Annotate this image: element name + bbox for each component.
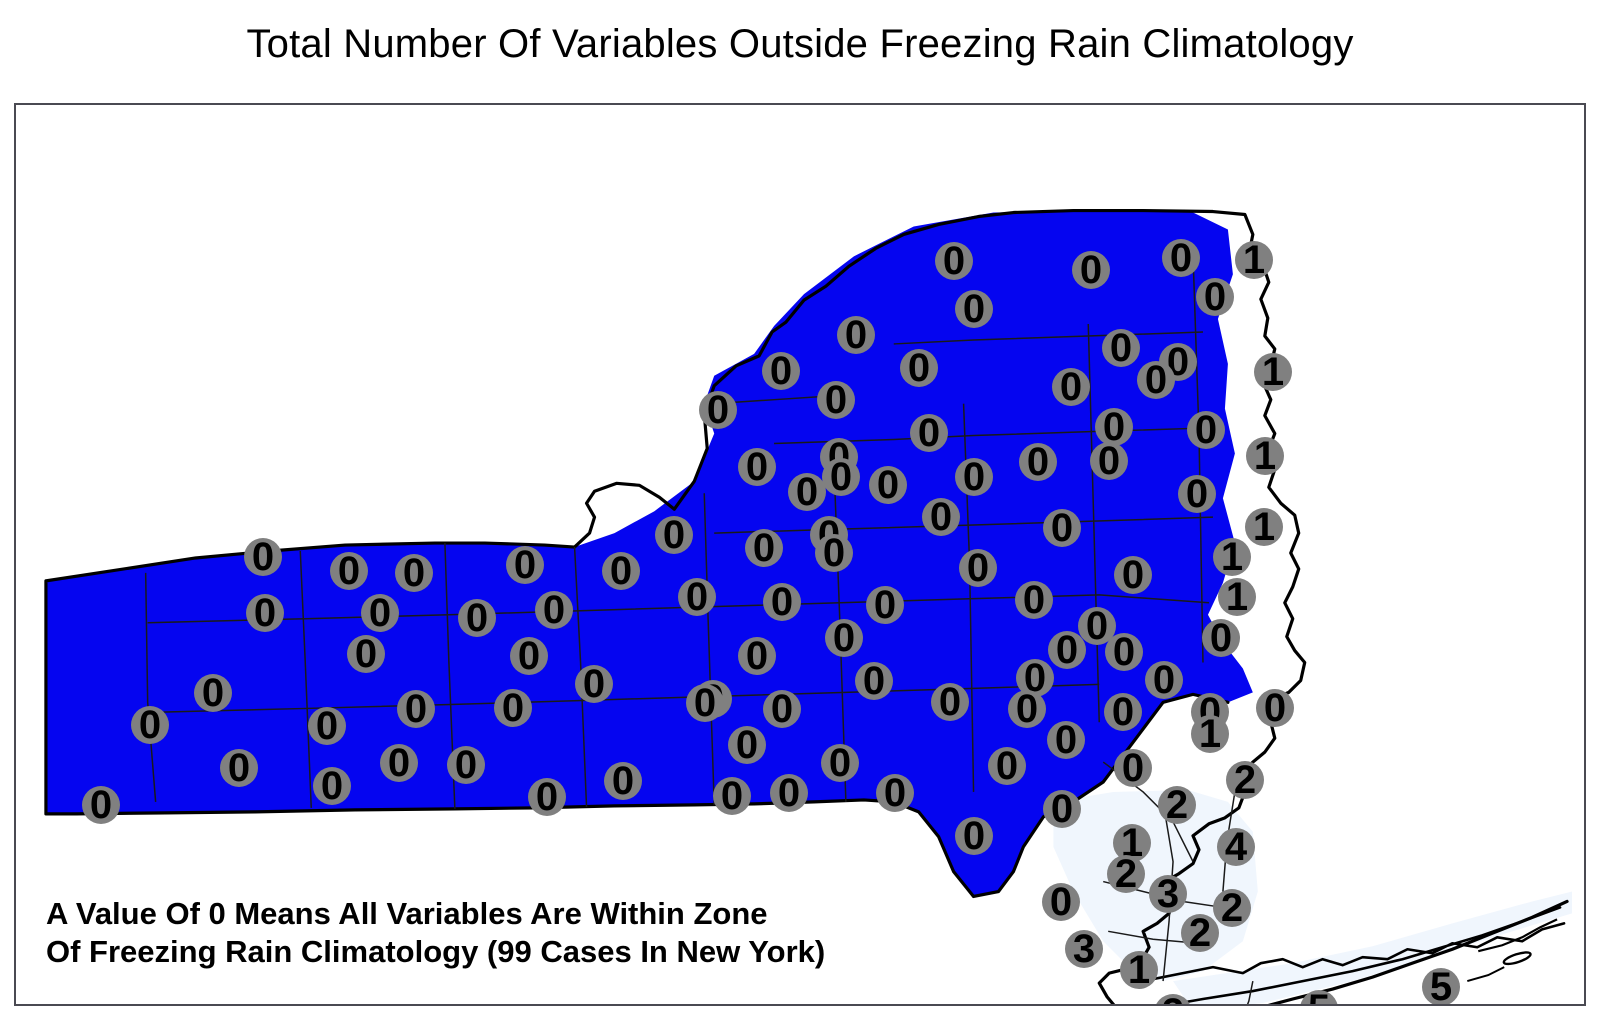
station-value-marker[interactable]: 0 [817,381,855,419]
station-value-marker[interactable]: 0 [728,726,766,764]
station-value-marker[interactable]: 0 [713,777,751,815]
station-value-marker[interactable]: 0 [745,529,783,567]
annotation-line-2: Of Freezing Rain Climatology (99 Cases I… [46,933,1076,971]
station-value-marker[interactable]: 0 [1052,368,1090,406]
station-value-marker[interactable]: 0 [220,749,258,787]
station-value-marker[interactable]: 0 [380,744,418,782]
station-value-marker[interactable]: 0 [770,774,808,812]
station-value-marker[interactable]: 0 [131,706,169,744]
station-value-marker[interactable]: 2 [1181,914,1219,952]
station-value-marker[interactable]: 0 [1015,581,1053,619]
station-value-marker[interactable]: 1 [1120,951,1158,989]
station-value-marker[interactable]: 0 [1187,411,1225,449]
station-value-marker[interactable]: 1 [1254,353,1292,391]
station-value-marker[interactable]: 0 [1196,278,1234,316]
station-value-marker[interactable]: 0 [1178,475,1216,513]
station-value-marker[interactable]: 0 [1047,721,1085,759]
station-value-marker[interactable]: 2 [1226,761,1264,799]
station-value-marker[interactable]: 0 [935,242,973,280]
station-value-marker[interactable]: 0 [763,583,801,621]
station-value-marker[interactable]: 1 [1218,578,1256,616]
station-value-marker[interactable]: 0 [959,549,997,587]
station-value-marker[interactable]: 0 [395,554,433,592]
station-value-marker[interactable]: 0 [762,352,800,390]
station-value-marker[interactable]: 0 [955,458,993,496]
station-value-marker[interactable]: 0 [686,684,724,722]
station-value-marker[interactable]: 0 [876,774,914,812]
station-value-marker[interactable]: 0 [246,594,284,632]
station-value-marker[interactable]: 0 [1102,329,1140,367]
station-value-marker[interactable]: 0 [955,290,993,328]
station-value-marker[interactable]: 0 [1019,443,1057,481]
station-value-marker[interactable]: 0 [922,498,960,536]
station-value-marker[interactable]: 0 [313,767,351,805]
station-value-marker[interactable]: 3 [1149,875,1187,913]
station-value-marker[interactable]: 0 [738,637,776,675]
station-value-marker[interactable]: 0 [1114,556,1152,594]
station-value-marker[interactable]: 0 [458,599,496,637]
station-value-marker[interactable]: 0 [1162,239,1200,277]
station-value-marker[interactable]: 0 [825,619,863,657]
page-title: Total Number Of Variables Outside Freezi… [0,22,1600,67]
station-value-marker[interactable]: 0 [837,316,875,354]
station-value-marker[interactable]: 0 [822,458,860,496]
station-value-marker[interactable]: 0 [699,391,737,429]
station-value-marker[interactable]: 0 [361,594,399,632]
station-value-marker[interactable]: 0 [1114,749,1152,787]
station-value-marker[interactable]: 0 [866,586,904,624]
station-value-marker[interactable]: 0 [1256,689,1294,727]
station-value-marker[interactable]: 0 [678,578,716,616]
station-value-marker[interactable]: 0 [330,552,368,590]
station-value-marker[interactable]: 0 [815,534,853,572]
station-value-marker[interactable]: 0 [1043,509,1081,547]
station-value-marker[interactable]: 0 [910,414,948,452]
station-value-marker[interactable]: 0 [82,786,120,824]
station-value-marker[interactable]: 0 [869,466,907,504]
station-value-marker[interactable]: 0 [931,683,969,721]
annotation-block: A Value Of 0 Means All Variables Are Wit… [46,895,1076,971]
station-value-marker[interactable]: 0 [821,744,859,782]
map-panel[interactable]: 0001000000000100000000010000000000010000… [14,103,1586,1006]
station-value-marker[interactable]: 0 [1145,661,1183,699]
station-value-marker[interactable]: 0 [506,546,544,584]
station-value-marker[interactable]: 0 [1202,619,1240,657]
station-value-marker[interactable]: 0 [1137,361,1175,399]
station-value-marker[interactable]: 1 [1191,715,1229,753]
figure-root: Total Number Of Variables Outside Freezi… [0,0,1600,1020]
station-value-marker[interactable]: 0 [655,516,693,554]
station-value-marker[interactable]: 0 [1043,790,1081,828]
station-value-marker[interactable]: 2 [1213,889,1251,927]
station-value-marker[interactable]: 0 [535,591,573,629]
station-value-marker[interactable]: 0 [788,473,826,511]
station-value-marker[interactable]: 0 [900,349,938,387]
station-value-marker[interactable]: 0 [1072,251,1110,289]
station-value-marker[interactable]: 0 [447,746,485,784]
station-value-marker[interactable]: 2 [1158,786,1196,824]
station-value-marker[interactable]: 5 [1422,968,1460,1006]
station-value-marker[interactable]: 0 [602,552,640,590]
station-value-marker[interactable]: 0 [347,635,385,673]
station-value-marker[interactable]: 0 [397,690,435,728]
station-value-marker[interactable]: 0 [494,689,532,727]
station-value-marker[interactable]: 0 [1008,690,1046,728]
station-value-marker[interactable]: 1 [1213,538,1251,576]
station-value-marker[interactable]: 0 [738,448,776,486]
station-value-marker[interactable]: 1 [1245,508,1283,546]
station-value-marker[interactable]: 2 [1107,855,1145,893]
station-value-marker[interactable]: 0 [1048,631,1086,669]
station-value-marker[interactable]: 0 [528,778,566,816]
station-value-marker[interactable]: 0 [194,674,232,712]
annotation-line-1: A Value Of 0 Means All Variables Are Wit… [46,895,1076,933]
station-value-marker[interactable]: 0 [575,665,613,703]
station-value-marker[interactable]: 0 [955,817,993,855]
station-value-marker[interactable]: 4 [1217,828,1255,866]
station-value-marker[interactable]: 0 [763,690,801,728]
station-value-marker[interactable]: 0 [1105,633,1143,671]
station-value-marker[interactable]: 1 [1246,437,1284,475]
station-value-marker[interactable]: 0 [1104,693,1142,731]
station-value-marker[interactable]: 1 [1235,241,1273,279]
station-value-marker[interactable]: 0 [604,762,642,800]
station-value-marker[interactable]: 0 [510,637,548,675]
station-value-marker[interactable]: 0 [855,662,893,700]
station-value-marker[interactable]: 0 [1090,442,1128,480]
station-value-marker[interactable]: 0 [988,747,1026,785]
station-value-marker[interactable]: 0 [244,538,282,576]
station-value-marker[interactable]: 0 [308,707,346,745]
